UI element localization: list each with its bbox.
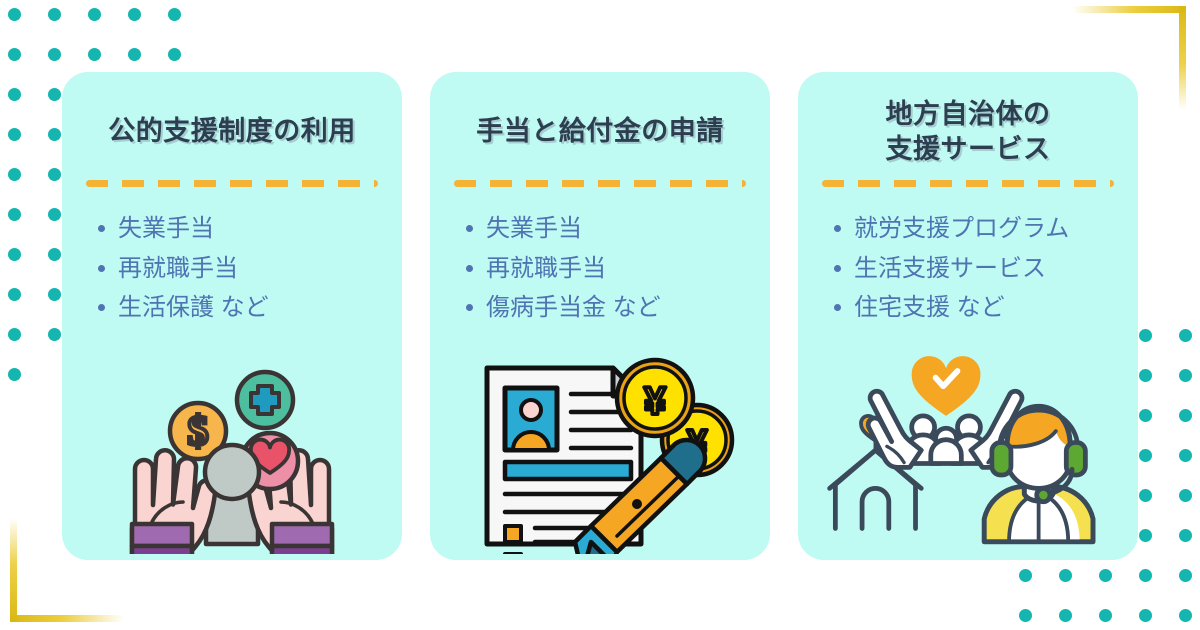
illustration-community-support-house-family-and-operator (822, 354, 1114, 560)
illustration-hands-holding-person-with-benefit-badges: $ (86, 369, 378, 560)
illustration-application-form-with-pen-and-yen-coins: ¥ ¥ (454, 354, 746, 560)
dot (8, 8, 21, 21)
dot (88, 48, 101, 61)
card-divider (454, 180, 746, 187)
dot (1099, 609, 1112, 622)
dot (168, 48, 181, 61)
dot (1179, 569, 1192, 582)
card-local-government-support-services[interactable]: 地方自治体の 支援サービス 就労支援プログラム 生活支援サービス 住宅支援 など (798, 72, 1138, 560)
svg-text:$: $ (188, 409, 209, 455)
list-item: 失業手当 (462, 209, 746, 249)
dot (128, 48, 141, 61)
card-divider (822, 180, 1114, 187)
dot (1099, 569, 1112, 582)
list-item: 傷病手当金 など (462, 288, 746, 328)
list-item: 失業手当 (94, 209, 378, 249)
list-item: 再就職手当 (462, 249, 746, 289)
card-allowance-and-benefit-application[interactable]: 手当と給付金の申請 失業手当 再就職手当 傷病手当金 など (430, 72, 770, 560)
dot (88, 8, 101, 21)
card-title: 手当と給付金の申請 (454, 94, 746, 168)
dot (1059, 609, 1072, 622)
dot (1019, 569, 1032, 582)
list-item: 住宅支援 など (830, 288, 1114, 328)
dot (168, 8, 181, 21)
card-title: 公的支援制度の利用 (86, 94, 378, 168)
dot (1179, 609, 1192, 622)
list-item: 再就職手当 (94, 249, 378, 289)
dot (8, 48, 21, 61)
list-item: 生活保護 など (94, 288, 378, 328)
card-bullet-list: 就労支援プログラム 生活支援サービス 住宅支援 など (822, 209, 1114, 328)
card-title: 地方自治体の 支援サービス (822, 94, 1114, 168)
infographic-canvas: 公的支援制度の利用 失業手当 再就職手当 生活保護 など (0, 0, 1200, 630)
dot (1019, 609, 1032, 622)
card-row: 公的支援制度の利用 失業手当 再就職手当 生活保護 など (0, 72, 1200, 560)
svg-text:¥: ¥ (644, 380, 666, 423)
dot (1139, 609, 1152, 622)
card-public-support-system[interactable]: 公的支援制度の利用 失業手当 再就職手当 生活保護 など (62, 72, 402, 560)
card-bullet-list: 失業手当 再就職手当 傷病手当金 など (454, 209, 746, 328)
dot (1059, 569, 1072, 582)
list-item: 就労支援プログラム (830, 209, 1114, 249)
card-bullet-list: 失業手当 再就職手当 生活保護 など (86, 209, 378, 328)
dot (1139, 569, 1152, 582)
dot (48, 8, 61, 21)
dot (128, 8, 141, 21)
dot (48, 48, 61, 61)
list-item: 生活支援サービス (830, 249, 1114, 289)
card-divider (86, 180, 378, 187)
